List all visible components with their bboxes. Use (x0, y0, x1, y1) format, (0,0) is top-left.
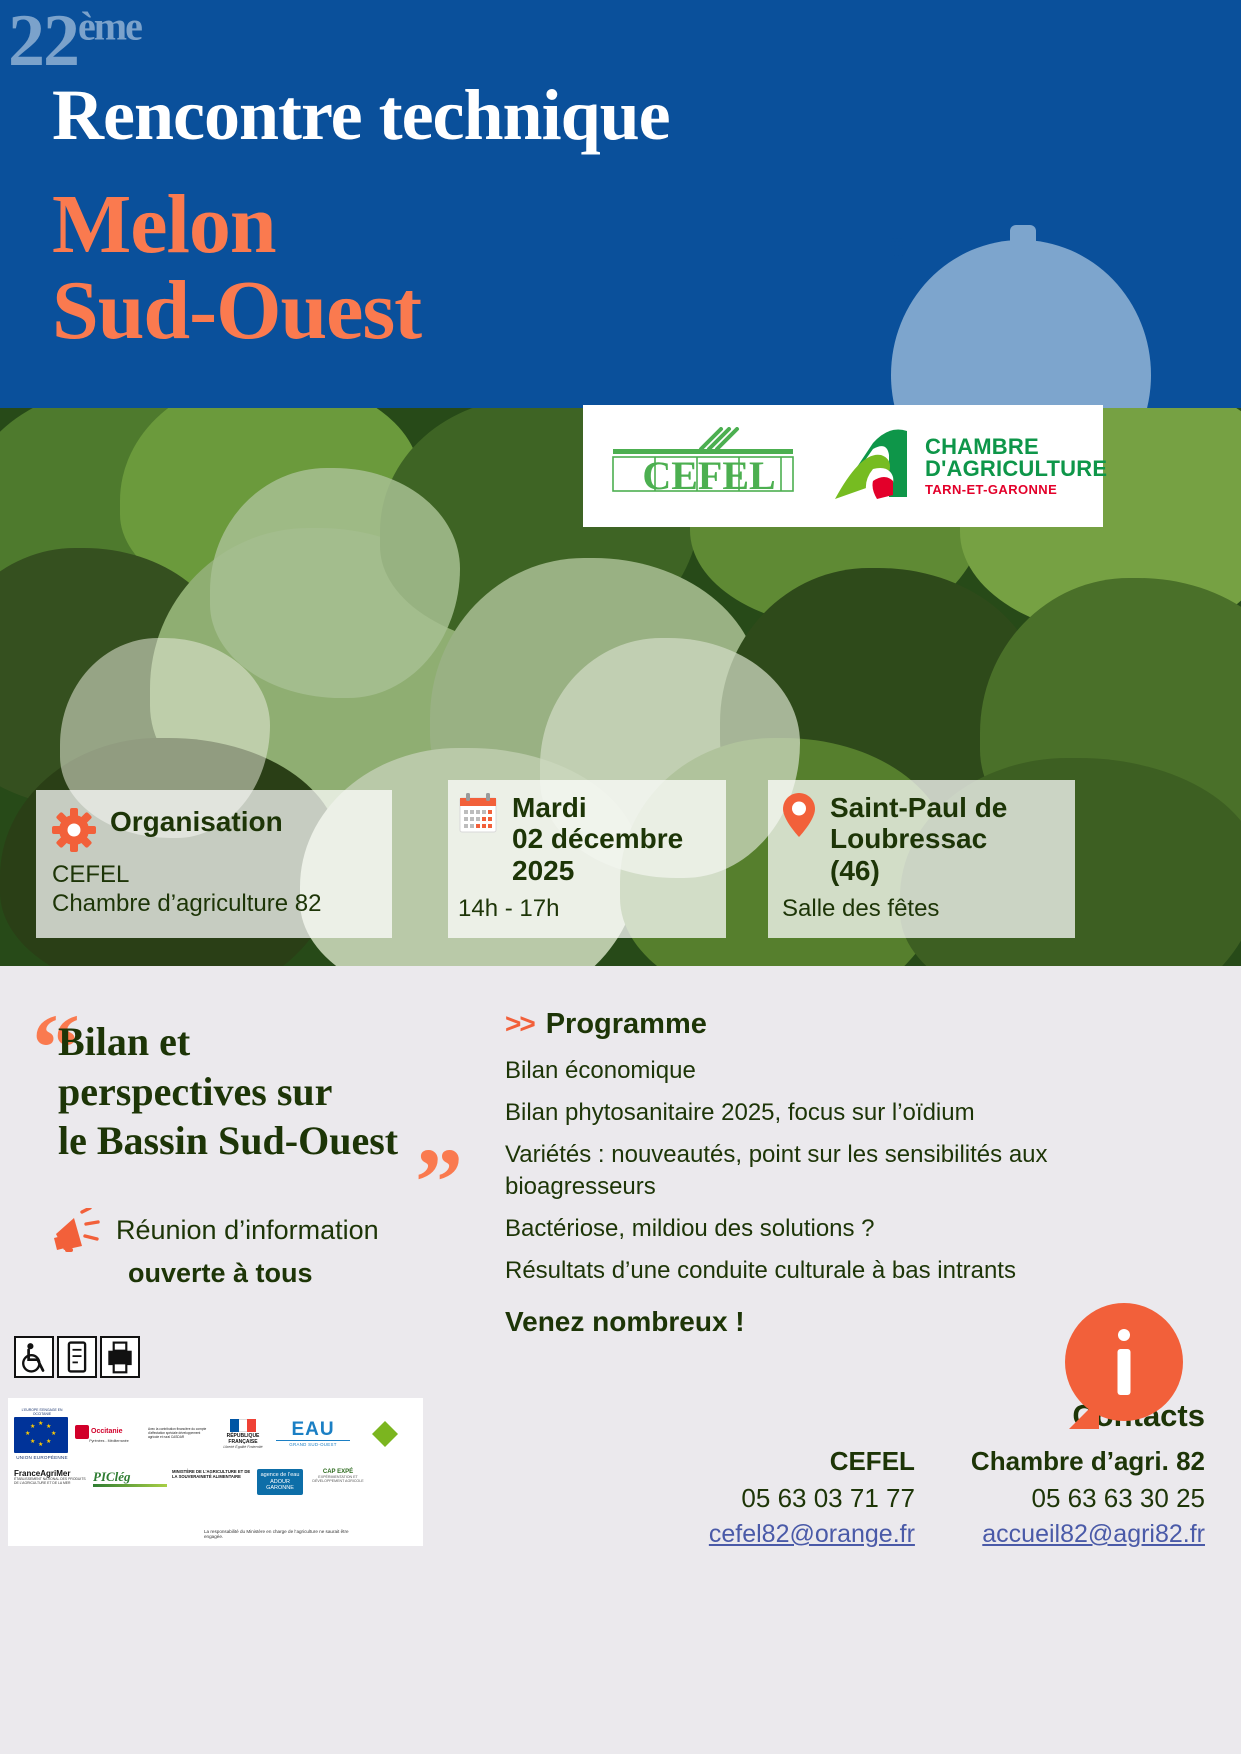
location-line-2: Loubressac (830, 823, 987, 854)
french-flag-icon (230, 1419, 256, 1432)
contact-email[interactable]: cefel82@orange.fr (709, 1520, 915, 1549)
agence-eau-name: agence de l’eau ADOUR GARONNE (257, 1469, 303, 1495)
organisation-title: Organisation (110, 806, 283, 837)
logo-band: CEFEL CHAMBRE D'AGRICULTURE TARN-ET-GARO… (583, 405, 1103, 527)
eu-caption: UNION EUROPÉENNE (14, 1455, 70, 1460)
chambre-agriculture-logo: CHAMBRE D'AGRICULTURE TARN-ET-GARONNE (833, 429, 1107, 503)
poster-header: 22ème Rencontre technique Melon Sud-Oues… (0, 0, 1241, 460)
eau-grand-sud-ouest-logo: EAU GRAND SUD-OUEST (276, 1420, 350, 1447)
edition-ordinal: 22ème (8, 4, 141, 78)
page-title: Rencontre technique (52, 80, 670, 151)
list-item: Bilan phytosanitaire 2025, focus sur l’o… (505, 1097, 1095, 1128)
eu-logo: L'EUROPE S'ENGAGE EN OCCITANIE ★ ★ ★ ★ ★… (14, 1408, 70, 1460)
list-item: Bilan économique (505, 1055, 1095, 1086)
page-subtitle: Melon Sud-Ouest (52, 182, 421, 353)
leaf-icon (372, 1421, 398, 1447)
megaphone-icon (52, 1208, 104, 1252)
contact-phone[interactable]: 05 63 03 71 77 (709, 1483, 915, 1514)
republique-francaise-logo: RÉPUBLIQUE FRANÇAISE Liberté Égalité Fra… (215, 1419, 271, 1449)
organisation-line-2: Chambre d’agriculture 82 (52, 889, 382, 918)
chambre-agriculture-wordmark: CHAMBRE D'AGRICULTURE TARN-ET-GARONNE (925, 436, 1107, 496)
chevron-right-icon: >> (505, 1008, 534, 1040)
funders-row-1: L'EUROPE S'ENGAGE EN OCCITANIE ★ ★ ★ ★ ★… (14, 1403, 417, 1465)
franceagrimer-sub: ÉTABLISSEMENT NATIONAL DES PRODUITS DE L… (14, 1478, 88, 1485)
contact-entry: CEFEL 05 63 03 71 77 cefel82@orange.fr (709, 1446, 915, 1549)
casdar-note-text: Avec la contribution financière du compt… (148, 1427, 206, 1439)
franceagrimer-logo: FranceAgriMer ÉTABLISSEMENT NATIONAL DES… (14, 1469, 88, 1486)
contact-name: CEFEL (709, 1446, 915, 1477)
eu-top-text: L'EUROPE S'ENGAGE EN OCCITANIE (14, 1408, 70, 1416)
document-icon (57, 1336, 97, 1378)
funders-logos: L'EUROPE S'ENGAGE EN OCCITANIE ★ ★ ★ ★ ★… (8, 1398, 423, 1546)
date-time: 14h - 17h (458, 894, 720, 923)
contact-name: Chambre d’agri. 82 (971, 1446, 1205, 1477)
chambre-line-3: TARN-ET-GARONNE (925, 483, 1107, 496)
date-weekday: Mardi (512, 792, 587, 823)
occitanie-sub: Pyrénées - Méditerranée (75, 1439, 143, 1443)
organisation-header: Organisation (52, 806, 382, 852)
ministere-name: MINISTÈRE DE L'AGRICULTURE ET DE LA SOUV… (172, 1469, 252, 1479)
quote-line-2: perspectives sur (58, 1067, 488, 1117)
programme-section: >> Programme Bilan économique Bilan phyt… (505, 1008, 1095, 1338)
quote-text: Bilan et perspectives sur le Bassin Sud-… (58, 1017, 488, 1166)
quote-line-1: Bilan et (58, 1017, 488, 1067)
picleg-name: PIClég (93, 1469, 167, 1484)
edition-suffix: ème (78, 3, 141, 48)
calendar-icon (458, 792, 498, 834)
chambre-line-2: D'AGRICULTURE (925, 458, 1107, 480)
location-line-3: (46) (830, 855, 880, 886)
date-year: 2025 (512, 855, 574, 886)
reunion-info: Réunion d’information ouverte à tous (52, 1208, 472, 1289)
reunion-bold-text: ouverte à tous (128, 1258, 472, 1289)
print-icon (100, 1336, 140, 1378)
organisation-body: CEFEL Chambre d’agriculture 82 (52, 860, 382, 919)
gear-icon (52, 808, 96, 852)
funders-disclaimer: La responsabilité du Ministère en charge… (204, 1529, 354, 1540)
eau-sub: GRAND SUD-OUEST (276, 1442, 350, 1447)
edition-number: 22 (8, 0, 78, 82)
location-header: Saint-Paul de Loubressac (46) (782, 792, 1067, 886)
list-item: Résultats d’une conduite culturale à bas… (505, 1255, 1095, 1286)
list-item: Variétés : nouveautés, point sur les sen… (505, 1139, 1095, 1201)
date-content: Mardi 02 décembre 2025 14h - 17h (458, 792, 720, 923)
funders-row-2: FranceAgriMer ÉTABLISSEMENT NATIONAL DES… (14, 1469, 417, 1531)
casdar-note: Avec la contribution financière du compt… (148, 1428, 210, 1439)
melon-stem-icon (1010, 225, 1036, 247)
reunion-row: Réunion d’information (52, 1208, 472, 1252)
quote-line-3: le Bassin Sud-Ouest (58, 1116, 488, 1166)
subtitle-line-1: Melon (52, 182, 421, 268)
info-icon (1065, 1303, 1183, 1421)
occitanie-cross-icon (75, 1425, 89, 1439)
wheelchair-icon (14, 1336, 54, 1378)
occitanie-logo: Occitanie Pyrénées - Méditerranée (75, 1425, 143, 1443)
date-day-month: 02 décembre (512, 823, 683, 854)
subtitle-line-2: Sud-Ouest (52, 268, 421, 354)
chambre-agriculture-mark-icon (833, 429, 915, 503)
organisation-line-1: CEFEL (52, 860, 382, 889)
contact-entry: Chambre d’agri. 82 05 63 63 30 25 accuei… (971, 1446, 1205, 1549)
republique-devise: Liberté Égalité Fraternité (215, 1445, 271, 1449)
location-title: Saint-Paul de Loubressac (46) (830, 792, 1007, 886)
location-line-1: Saint-Paul de (830, 792, 1007, 823)
info-badge (1065, 1303, 1183, 1421)
reunion-text: Réunion d’information (116, 1215, 379, 1246)
map-pin-icon (782, 792, 816, 838)
programme-heading: Programme (546, 1008, 707, 1041)
republique-name: RÉPUBLIQUE FRANÇAISE (215, 1433, 271, 1445)
cefel-wordmark: CEFEL (642, 453, 775, 498)
location-content: Saint-Paul de Loubressac (46) Salle des … (782, 792, 1067, 923)
contact-email[interactable]: accueil82@agri82.fr (971, 1520, 1205, 1549)
programme-list: Bilan économique Bilan phytosanitaire 20… (505, 1055, 1095, 1286)
cap-expe-caption: CAP EXPÉ EXPÉRIMENTATION ET DÉVELOPPEMEN… (308, 1469, 368, 1483)
location-venue: Salle des fêtes (782, 894, 1067, 923)
date-header: Mardi 02 décembre 2025 (458, 792, 720, 886)
occitanie-name: Occitanie (91, 1428, 123, 1436)
cap-expe-sub: EXPÉRIMENTATION ET DÉVELOPPEMENT AGRICOL… (308, 1475, 368, 1483)
list-item: Bactériose, mildiou des solutions ? (505, 1213, 1095, 1244)
programme-header: >> Programme (505, 1008, 1095, 1041)
ministere-agriculture-logo: MINISTÈRE DE L'AGRICULTURE ET DE LA SOUV… (172, 1469, 252, 1479)
chambre-line-1: CHAMBRE (925, 436, 1107, 458)
contacts-grid: CEFEL 05 63 03 71 77 cefel82@orange.fr C… (645, 1446, 1205, 1549)
date-title: Mardi 02 décembre 2025 (512, 792, 683, 886)
cap-expe-logo (355, 1421, 415, 1447)
accessibility-icons (14, 1336, 140, 1378)
cefel-logo: CEFEL (609, 427, 809, 505)
poster-root: 22ème Rencontre technique Melon Sud-Oues… (0, 0, 1241, 1754)
contact-phone[interactable]: 05 63 63 30 25 (971, 1483, 1205, 1514)
agence-eau-logo: agence de l’eau ADOUR GARONNE (257, 1469, 303, 1495)
picleg-logo: PIClég (93, 1469, 167, 1487)
call-to-action: Venez nombreux ! (505, 1306, 1095, 1338)
organisation-content: Organisation CEFEL Chambre d’agriculture… (52, 806, 382, 919)
eau-name: EAU (276, 1420, 350, 1439)
eu-flag-icon: ★ ★ ★ ★ ★ ★ ★ ★ (14, 1417, 68, 1453)
